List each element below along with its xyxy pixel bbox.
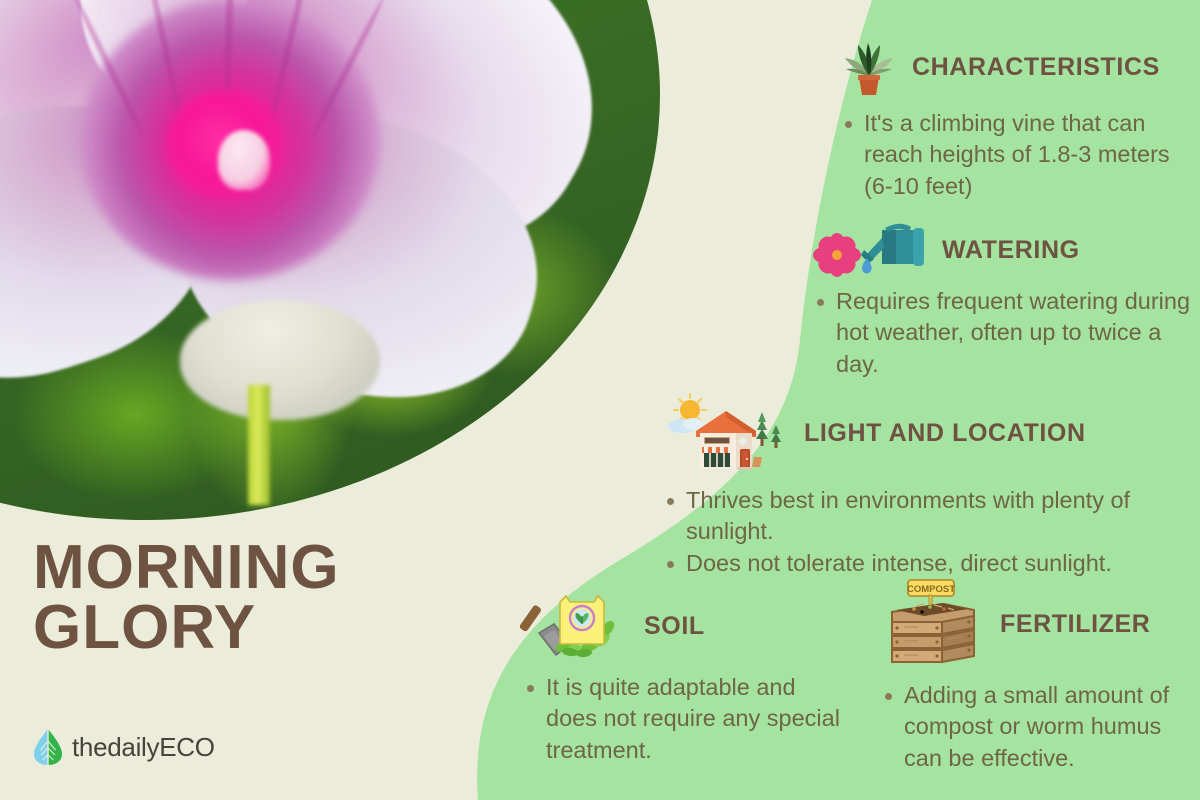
page-title: MORNING GLORY bbox=[33, 538, 463, 657]
section-soil: SOIL It is quite adaptable and does not … bbox=[520, 588, 850, 766]
soil-bag-with-shovel-icon bbox=[520, 588, 632, 664]
svg-text:COMPOST: COMPOST bbox=[907, 584, 955, 595]
section-watering: WATERING Requires frequent watering duri… bbox=[810, 222, 1192, 380]
compost-sign-glyph: COMPOST bbox=[907, 580, 955, 607]
section-title: CHARACTERISTICS bbox=[912, 53, 1160, 82]
infographic-poster: MORNING GLORY thedailyECO bbox=[0, 0, 1200, 800]
section-header: SOIL bbox=[520, 588, 850, 664]
section-header: COMPOST bbox=[878, 578, 1190, 670]
soil-bag-glyph bbox=[560, 596, 604, 644]
section-bullet-list: It is quite adaptable and does not requi… bbox=[520, 672, 850, 766]
pink-flower-glyph bbox=[813, 233, 861, 277]
watering-can-glyph bbox=[861, 224, 924, 266]
brand-logo: thedailyECO bbox=[33, 728, 215, 766]
section-bullet-list: Thrives best in environments with plenty… bbox=[660, 485, 1194, 579]
section-light-and-location: LIGHT AND LOCATION Thrives best in envir… bbox=[660, 393, 1194, 579]
bullet-item: Adding a small amount of compost or worm… bbox=[878, 680, 1190, 774]
bullet-item: Does not tolerate intense, direct sunlig… bbox=[660, 548, 1194, 579]
house-glyph bbox=[696, 411, 762, 470]
section-bullet-list: Requires frequent watering during hot we… bbox=[810, 286, 1192, 380]
section-title: LIGHT AND LOCATION bbox=[804, 419, 1086, 448]
compost-bin-glyph bbox=[892, 603, 974, 662]
bullet-item: Requires frequent watering during hot we… bbox=[810, 286, 1192, 380]
watering-can-icon bbox=[810, 222, 930, 278]
bullet-item: It's a climbing vine that can reach heig… bbox=[838, 108, 1190, 202]
title-line-1: MORNING bbox=[33, 538, 463, 598]
section-header: WATERING bbox=[810, 222, 1192, 278]
section-title: WATERING bbox=[942, 236, 1080, 265]
section-bullet-list: It's a climbing vine that can reach heig… bbox=[838, 108, 1190, 202]
pine-trees-glyph bbox=[756, 412, 781, 448]
compost-bin-icon: COMPOST bbox=[878, 578, 988, 670]
leaf-droplet-logo-icon bbox=[33, 728, 63, 766]
section-bullet-list: Adding a small amount of compost or worm… bbox=[878, 680, 1190, 774]
bullet-item: It is quite adaptable and does not requi… bbox=[520, 672, 850, 766]
section-fertilizer: COMPOST bbox=[878, 578, 1190, 774]
section-title: SOIL bbox=[644, 612, 705, 641]
house-with-sun-icon bbox=[660, 393, 792, 473]
section-header: CHARACTERISTICS bbox=[838, 36, 1190, 98]
title-line-2: GLORY bbox=[33, 598, 463, 658]
section-characteristics: CHARACTERISTICS It's a climbing vine tha… bbox=[838, 36, 1190, 202]
section-title: FERTILIZER bbox=[1000, 610, 1150, 639]
section-header: LIGHT AND LOCATION bbox=[660, 393, 1194, 473]
potted-plant-icon bbox=[838, 36, 900, 98]
brand-name: thedailyECO bbox=[72, 732, 215, 763]
bullet-item: Thrives best in environments with plenty… bbox=[660, 485, 1194, 548]
